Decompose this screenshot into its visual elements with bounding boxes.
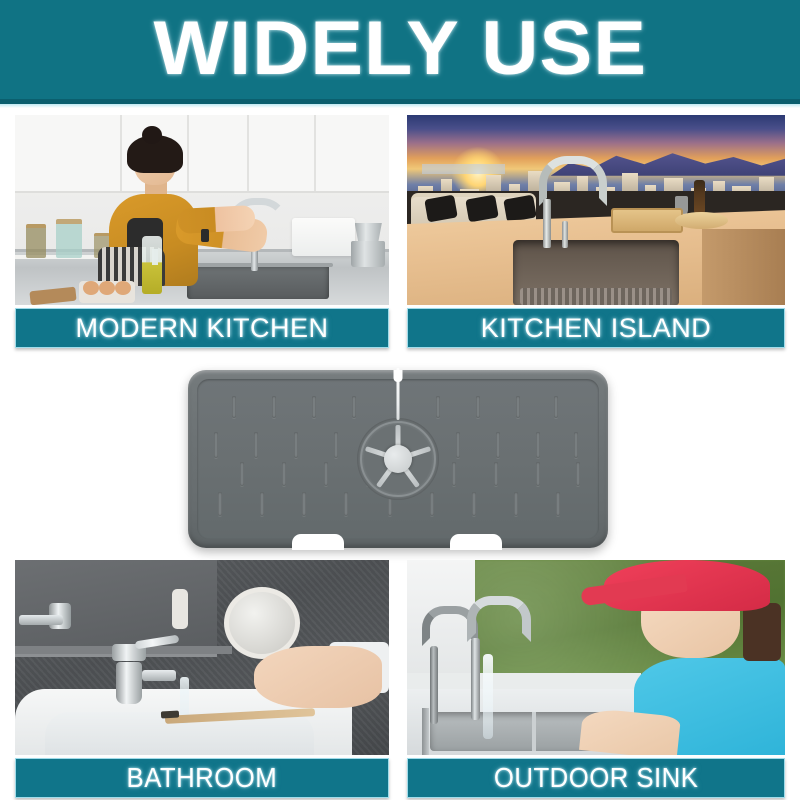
egg xyxy=(83,281,99,295)
drain-ridge xyxy=(344,492,348,516)
secondary-faucet-neck xyxy=(430,646,438,724)
faucet-body xyxy=(116,662,142,704)
sink-grate xyxy=(520,288,671,305)
drain-ridge xyxy=(472,492,476,516)
supply-pipe xyxy=(422,708,429,755)
cutout-hub xyxy=(384,445,412,473)
drain-ridge xyxy=(576,462,580,486)
drain-ridge xyxy=(302,492,306,516)
kitchen-appliance xyxy=(292,218,356,256)
drain-ridge xyxy=(260,492,264,516)
cabinet-seam xyxy=(247,115,249,191)
drain-ridge xyxy=(516,396,520,418)
panel-bathroom xyxy=(15,560,389,755)
drain-ridge xyxy=(214,432,218,458)
product-faucet-mat xyxy=(188,370,608,548)
caption-label: BATHROOM xyxy=(127,762,278,794)
faucet-neck xyxy=(471,638,480,720)
panel-kitchen-island xyxy=(407,115,785,305)
caption-bathroom: BATHROOM xyxy=(15,758,389,798)
caption-outdoor-sink: OUTDOOR SINK xyxy=(407,758,785,798)
person-watch xyxy=(201,229,209,242)
drain-ridge xyxy=(294,432,298,458)
drain-ridge xyxy=(430,492,434,516)
egg xyxy=(99,281,115,295)
drain-ridge xyxy=(574,432,578,458)
drain-ridge xyxy=(496,432,500,458)
caption-label: KITCHEN ISLAND xyxy=(481,313,712,344)
drain-ridge xyxy=(514,492,518,516)
mat-notch xyxy=(292,534,344,550)
soap-dispenser xyxy=(562,221,568,248)
cushion xyxy=(466,194,500,222)
person-arm xyxy=(178,205,257,234)
drain-ridge xyxy=(254,432,258,458)
oil-bottle-neck xyxy=(152,249,158,265)
drain-ridge xyxy=(352,396,356,418)
caption-kitchen-island: KITCHEN ISLAND xyxy=(407,308,785,348)
girl-braid xyxy=(743,603,781,662)
photo-outdoor-sink xyxy=(407,560,785,755)
moka-pot xyxy=(351,223,385,267)
drain-ridge xyxy=(218,492,222,516)
cushion xyxy=(504,194,538,222)
photo-modern-kitchen xyxy=(15,115,389,305)
serving-tray xyxy=(611,208,683,233)
storage-jar xyxy=(56,219,82,258)
drain-ridge xyxy=(334,432,338,458)
drain-ridge xyxy=(272,396,276,418)
header-underglow xyxy=(0,104,800,108)
drain-ridge xyxy=(282,462,286,486)
caption-modern-kitchen: MODERN KITCHEN xyxy=(15,308,389,348)
drain-ridge xyxy=(232,396,236,418)
toothbrush-bristles xyxy=(161,710,179,718)
water-stream xyxy=(483,654,493,740)
round-side-table xyxy=(675,212,728,229)
faucet-cutout-ring xyxy=(357,418,439,500)
drain-ridge xyxy=(476,396,480,418)
drain-ridge xyxy=(452,462,456,486)
product-infographic: WIDELY USE xyxy=(0,0,800,800)
caption-label: OUTDOOR SINK xyxy=(494,762,698,794)
drain-ridge xyxy=(536,462,540,486)
mat-body xyxy=(188,370,608,548)
egg xyxy=(115,281,131,295)
person-hand xyxy=(254,646,381,708)
sink-divider xyxy=(532,712,536,751)
panel-outdoor-sink xyxy=(407,560,785,755)
mirrored-faucet-spout xyxy=(19,615,63,625)
mat-slit-opening xyxy=(394,370,403,382)
egg-carton xyxy=(79,281,135,303)
photo-bathroom xyxy=(15,560,389,755)
cabinet-seam xyxy=(314,115,316,191)
faucet-neck xyxy=(543,199,551,248)
wine-bottle xyxy=(694,180,705,214)
drain-ridge xyxy=(556,492,560,516)
cushion xyxy=(424,194,458,222)
drain-ridge xyxy=(312,396,316,418)
storage-jar xyxy=(26,224,46,258)
panel-modern-kitchen xyxy=(15,115,389,305)
page-title: WIDELY USE xyxy=(153,11,647,93)
caption-label: MODERN KITCHEN xyxy=(75,313,328,344)
mat-notch xyxy=(450,534,502,550)
drain-ridge xyxy=(494,462,498,486)
moka-pot-base xyxy=(351,241,385,267)
drain-ridge xyxy=(554,396,558,418)
drain-ridge xyxy=(240,462,244,486)
photo-kitchen-island xyxy=(407,115,785,305)
drain-ridge xyxy=(436,396,440,418)
moka-pot-top xyxy=(355,223,382,243)
drain-ridge xyxy=(324,462,328,486)
island-cabinet-side xyxy=(702,229,785,305)
faucet-spout xyxy=(467,596,531,642)
drain-ridge xyxy=(456,432,460,458)
faucet-spout xyxy=(142,670,176,681)
drain-ridge xyxy=(536,432,540,458)
toiletry-item xyxy=(172,589,188,629)
header-banner: WIDELY USE xyxy=(0,0,800,104)
